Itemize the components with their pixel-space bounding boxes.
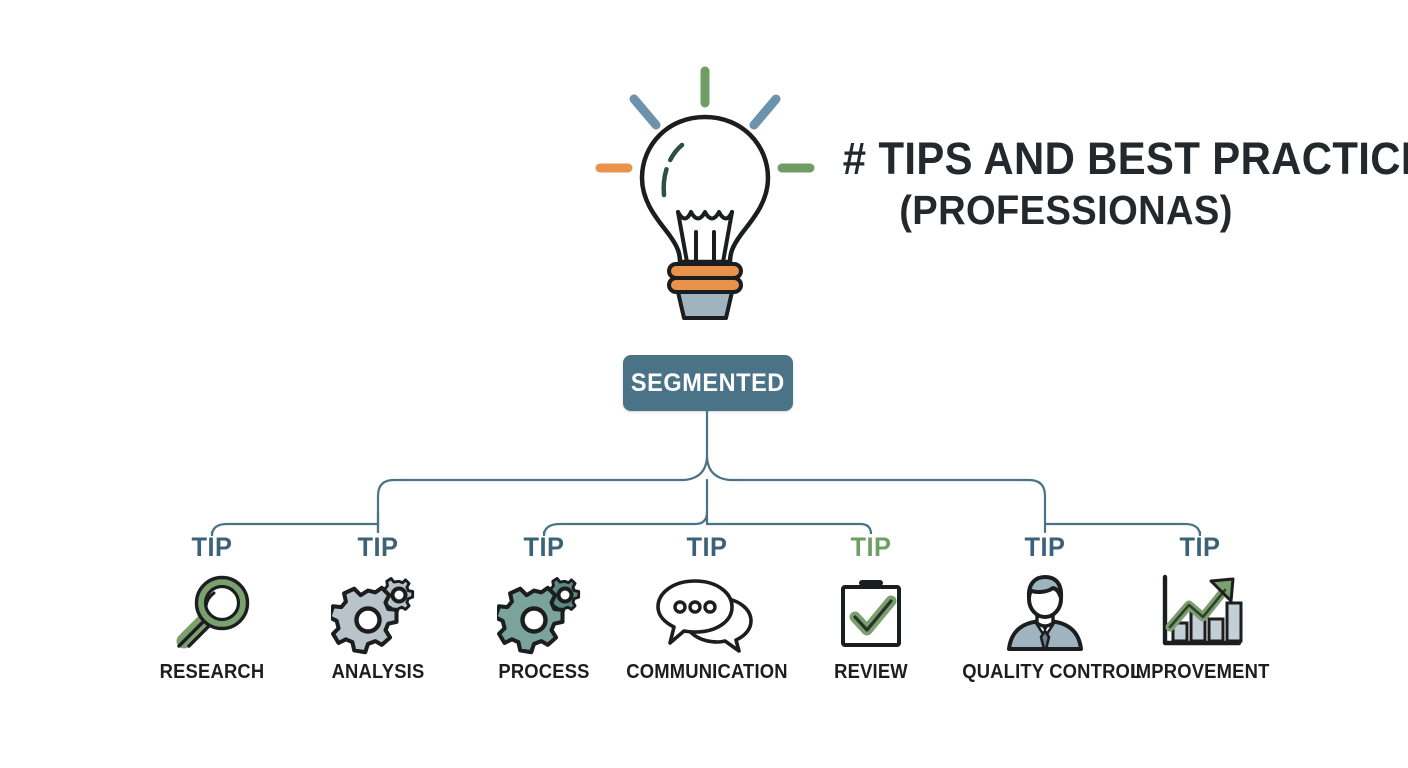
tip-item-analysis[interactable]: TIP ANALYSIS [288,534,468,684]
tips-row: TIP RESEARCH TI [0,0,1408,768]
tip-item-quality-control[interactable]: TIP QUALITY CONTROL [955,534,1135,684]
checkbox-check-icon [781,569,961,657]
tip-item-communication[interactable]: TIP COMMUNICATION [617,534,797,684]
speech-bubbles-icon [617,569,797,657]
tip-label: REVIEW [788,661,954,684]
tip-label: PROCESS [461,661,627,684]
tip-kicker: TIP [293,534,462,561]
tip-label: IMPROVEMENT [1117,661,1283,684]
tip-label: QUALITY CONTROL [962,661,1128,684]
tip-kicker: TIP [127,534,296,561]
tip-label: COMMUNICATION [624,661,790,684]
tip-kicker: TIP [622,534,791,561]
tip-kicker: TIP [786,534,955,561]
businessman-icon [955,569,1135,657]
tip-label: ANALYSIS [295,661,461,684]
magnifying-glass-icon [122,569,302,657]
tip-item-process[interactable]: TIP PROCESS [454,534,634,684]
bar-chart-arrow-icon [1110,569,1290,657]
tip-kicker: TIP [459,534,628,561]
tip-kicker: TIP [960,534,1129,561]
gears-gray-icon [288,569,468,657]
tip-item-review[interactable]: TIP REVIEW [781,534,961,684]
tip-kicker: TIP [1115,534,1284,561]
infographic-canvas: # TIPS AND BEST PRACTICES (PROFESSIONAS)… [0,0,1408,768]
tip-label: RESEARCH [129,661,295,684]
tip-item-research[interactable]: TIP RESEARCH [122,534,302,684]
tip-item-improvement[interactable]: TIP IMPROVEMENT [1110,534,1290,684]
gears-teal-icon [454,569,634,657]
